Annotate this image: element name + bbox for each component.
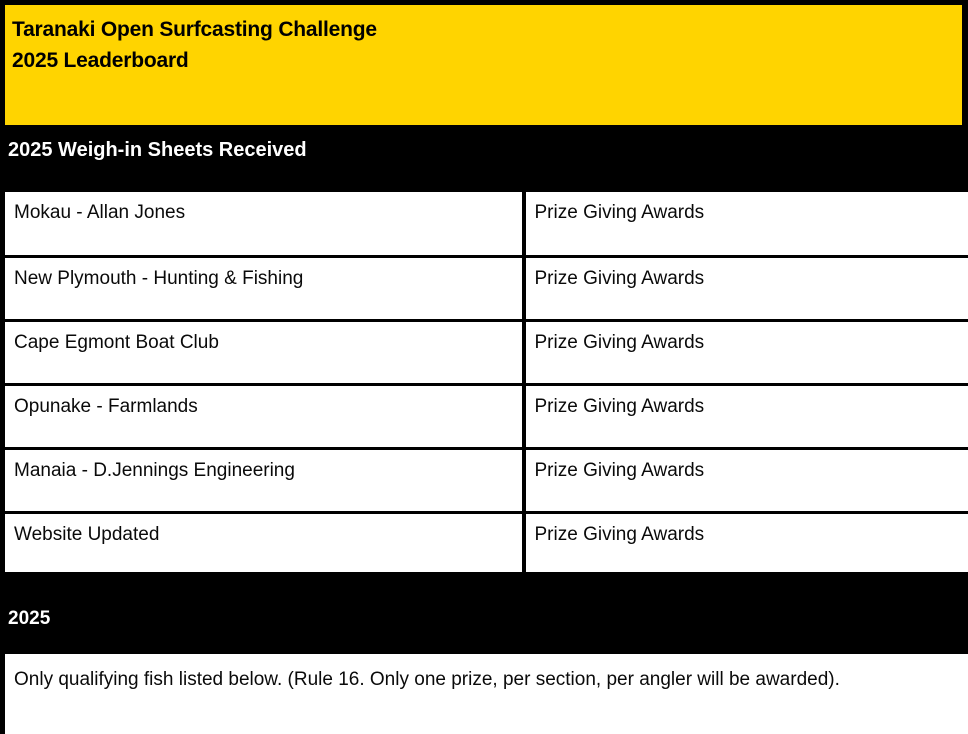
weighin-location-cell: New Plymouth - Hunting & Fishing xyxy=(3,256,524,320)
table-row: New Plymouth - Hunting & Fishing Prize G… xyxy=(3,256,968,320)
title-banner: Taranaki Open Surfcasting Challenge 2025… xyxy=(5,5,962,125)
table-row: Opunake - Farmlands Prize Giving Awards xyxy=(3,384,968,448)
leaderboard-page: Taranaki Open Surfcasting Challenge 2025… xyxy=(0,0,968,734)
weighin-section-header: 2025 Weigh-in Sheets Received xyxy=(0,125,968,192)
weighin-location-cell: Opunake - Farmlands xyxy=(3,384,524,448)
table-row: Mokau - Allan Jones Prize Giving Awards xyxy=(3,192,968,256)
page-title-line-1: Taranaki Open Surfcasting Challenge xyxy=(12,14,962,45)
table-row: Manaia - D.Jennings Engineering Prize Gi… xyxy=(3,448,968,512)
year-section-header: 2025 xyxy=(0,572,968,654)
page-title-line-2: 2025 Leaderboard xyxy=(12,45,962,76)
qualifying-note-text: Only qualifying fish listed below. (Rule… xyxy=(14,664,952,695)
weighin-location-cell: Mokau - Allan Jones xyxy=(3,192,524,256)
table-row: Website Updated Prize Giving Awards xyxy=(3,512,968,576)
weighin-location-cell: Manaia - D.Jennings Engineering xyxy=(3,448,524,512)
weighin-location-cell: Website Updated xyxy=(3,512,524,576)
prize-award-cell: Prize Giving Awards xyxy=(524,448,968,512)
prize-award-cell: Prize Giving Awards xyxy=(524,384,968,448)
weighin-sheets-table: Mokau - Allan Jones Prize Giving Awards … xyxy=(0,192,968,576)
qualifying-note-block: Only qualifying fish listed below. (Rule… xyxy=(0,654,968,734)
prize-award-cell: Prize Giving Awards xyxy=(524,512,968,576)
table-row: Cape Egmont Boat Club Prize Giving Award… xyxy=(3,320,968,384)
prize-award-cell: Prize Giving Awards xyxy=(524,192,968,256)
prize-award-cell: Prize Giving Awards xyxy=(524,320,968,384)
weighin-sheets-table-body: Mokau - Allan Jones Prize Giving Awards … xyxy=(3,192,968,576)
prize-award-cell: Prize Giving Awards xyxy=(524,256,968,320)
weighin-location-cell: Cape Egmont Boat Club xyxy=(3,320,524,384)
